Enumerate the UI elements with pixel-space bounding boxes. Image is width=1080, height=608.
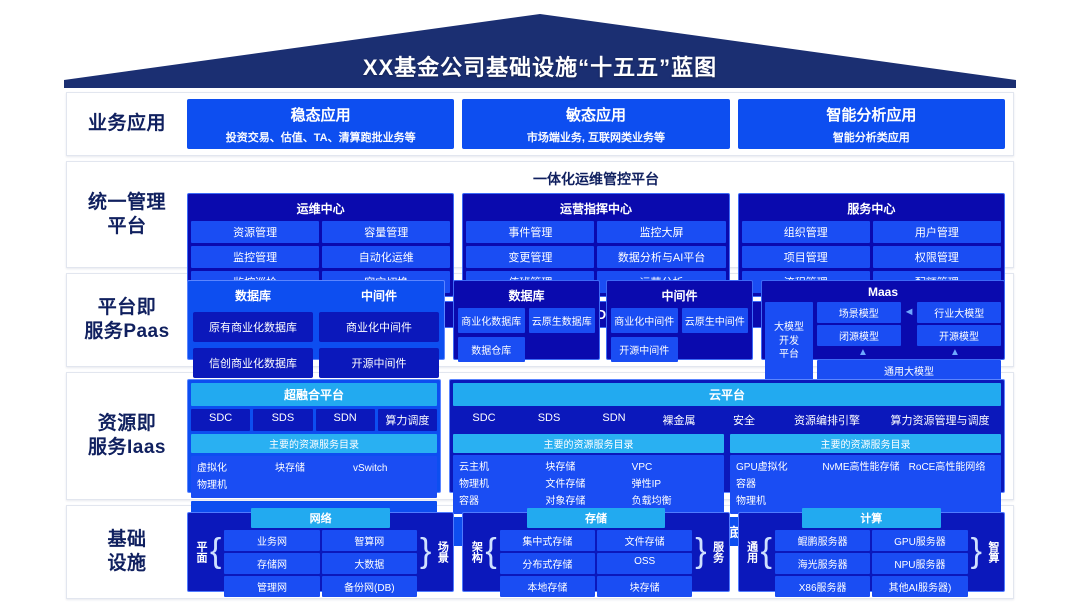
capability-chip[interactable]: SDC bbox=[191, 409, 250, 431]
catalog-title: 主要的资源服务目录 bbox=[191, 434, 437, 453]
catalog-item: 虚拟化 bbox=[197, 460, 275, 477]
label-line-1: 统一管理 bbox=[88, 191, 166, 215]
infra-item[interactable]: 集中式存储 bbox=[500, 530, 595, 551]
business-card-intelligent[interactable]: 智能分析应用 智能分析类应用 bbox=[738, 99, 1005, 149]
label-line-2: 设施 bbox=[107, 552, 146, 576]
maas-scene-model[interactable]: 场景模型 bbox=[817, 302, 901, 323]
chip-item[interactable]: 资源管理 bbox=[191, 221, 319, 243]
catalog-title: 主要的资源服务目录 bbox=[730, 434, 1001, 453]
arrow-left-icon: ◄ bbox=[904, 307, 915, 318]
capability-chip[interactable]: SDN bbox=[583, 409, 645, 431]
infra-item[interactable]: 文件存储 bbox=[597, 530, 692, 551]
arrow-up-icon: ▲ bbox=[950, 348, 960, 358]
maas-dev-platform[interactable]: 大模型 开发 平台 bbox=[765, 302, 813, 381]
storage-right-label: 服务 bbox=[710, 541, 724, 563]
business-cards: 稳态应用 投资交易、估值、TA、清算跑批业务等 敏态应用 市场端业务, 互联网类… bbox=[187, 93, 1013, 155]
catalog-item: 物理机 bbox=[459, 476, 545, 493]
capability-chip[interactable]: SDN bbox=[316, 409, 375, 431]
layer-paas: 平台即 服务Paas 数据库 原有商业化数据库 信创商业化数据库 中间件 商业化… bbox=[66, 273, 1014, 367]
paas-item[interactable]: 云原生中间件 bbox=[682, 308, 749, 333]
layer-iaas: 资源即 服务Iaas 超融合平台 SDC SDS SDN 算力调度 主要的资源服… bbox=[66, 372, 1014, 500]
brace-right-icon: } bbox=[695, 539, 706, 565]
dev-line-1: 大模型 bbox=[774, 321, 804, 335]
paas-legacy-block: 数据库 原有商业化数据库 信创商业化数据库 中间件 商业化中间件 开源中间件 bbox=[187, 280, 445, 360]
card-title: 智能分析应用 bbox=[826, 104, 916, 125]
compute-left-label: 通用 bbox=[744, 541, 758, 563]
chip-item[interactable]: 变更管理 bbox=[466, 246, 594, 268]
catalog-group-ai: 主要的资源服务目录 GPU虚拟化 容器 物理机 NvME高性能存储 bbox=[730, 434, 1001, 514]
capability-chip[interactable]: 安全 bbox=[713, 409, 775, 431]
card-title: 稳态应用 bbox=[291, 104, 351, 125]
infra-item[interactable]: 本地存储 bbox=[500, 576, 595, 597]
capability-chip[interactable]: 资源编排引擎 bbox=[778, 409, 876, 431]
infra-item[interactable]: OSS bbox=[597, 553, 692, 574]
catalog-item: 文件存储 bbox=[545, 476, 631, 493]
infra-item[interactable]: 分布式存储 bbox=[500, 553, 595, 574]
brace-left-icon: { bbox=[210, 539, 221, 565]
capability-chip[interactable]: 裸金属 bbox=[648, 409, 710, 431]
maas-closed-model[interactable]: 闭源模型 bbox=[817, 325, 901, 346]
paas-cloud-block: 数据库 商业化数据库 云原生数据库 数据仓库 中间件 商业化中间件 云原生中间件 bbox=[453, 280, 753, 360]
infra-item[interactable]: NPU服务器 bbox=[872, 553, 967, 574]
maas-title: Maas bbox=[765, 284, 1001, 302]
paas-db-group: 数据库 原有商业化数据库 信创商业化数据库 bbox=[193, 286, 313, 354]
label-line-2: 服务Iaas bbox=[88, 436, 166, 460]
infra-item[interactable]: 鲲鹏服务器 bbox=[775, 530, 870, 551]
paas-item-empty bbox=[682, 337, 749, 362]
brace-left-icon: { bbox=[485, 539, 496, 565]
layer-stack: 业务应用 稳态应用 投资交易、估值、TA、清算跑批业务等 敏态应用 市场端业务,… bbox=[66, 92, 1014, 604]
integrated-ops-title: 一体化运维管控平台 bbox=[187, 169, 1005, 189]
catalog-item: 物理机 bbox=[197, 477, 275, 494]
capability-chip[interactable]: SDC bbox=[453, 409, 515, 431]
paas-item[interactable]: 商业化中间件 bbox=[611, 308, 678, 333]
compute-right-label: 智算 bbox=[985, 541, 999, 563]
arrow-up-icon: ▲ bbox=[858, 348, 868, 358]
storage-title: 存储 bbox=[527, 508, 666, 528]
group-title: 数据库 bbox=[458, 285, 595, 308]
network-title: 网络 bbox=[251, 508, 390, 528]
catalog-item: 块存储 bbox=[275, 460, 353, 477]
label-line-1: 资源即 bbox=[88, 412, 166, 436]
layer-label-infrastructure: 基础 设施 bbox=[67, 506, 187, 598]
catalog-item: NvME高性能存储 bbox=[822, 459, 908, 476]
chip-item[interactable]: 自动化运维 bbox=[322, 246, 450, 268]
catalog-item: RoCE高性能网络 bbox=[909, 459, 995, 476]
catalog-title: 主要的资源服务目录 bbox=[453, 434, 724, 453]
catalog-group-general: 主要的资源服务目录 云主机 物理机 容器 块存储 文件存储 bbox=[453, 434, 724, 514]
chip-item[interactable]: 权限管理 bbox=[873, 246, 1001, 268]
center-title: 服务中心 bbox=[742, 197, 1001, 221]
catalog-item: 容器 bbox=[736, 476, 822, 493]
network-left-label: 平面 bbox=[193, 541, 207, 563]
chip-item[interactable]: 事件管理 bbox=[466, 221, 594, 243]
chip-item[interactable]: 监控管理 bbox=[191, 246, 319, 268]
infra-block-network: 平面 { 网络 业务网 智算网 存储网 大数据 管理网 备份网(DB) bbox=[187, 512, 454, 592]
label-line-1: 平台即 bbox=[84, 296, 169, 320]
business-card-agile[interactable]: 敏态应用 市场端业务, 互联网类业务等 bbox=[462, 99, 729, 149]
infra-block-compute: 通用 { 计算 鲲鹏服务器 GPU服务器 海光服务器 NPU服务器 X86服务器… bbox=[738, 512, 1005, 592]
group-title: 中间件 bbox=[611, 285, 748, 308]
paas-item[interactable]: 原有商业化数据库 bbox=[193, 312, 313, 342]
capability-chip[interactable]: SDS bbox=[253, 409, 312, 431]
infra-item[interactable]: 业务网 bbox=[224, 530, 319, 551]
infra-item[interactable]: 大数据 bbox=[322, 553, 417, 574]
layer-label-management: 统一管理 平台 bbox=[67, 162, 187, 267]
maas-industry-model[interactable]: 行业大模型 bbox=[917, 302, 1001, 323]
infra-item[interactable]: 备份网(DB) bbox=[322, 576, 417, 597]
cloud-platform-title: 云平台 bbox=[453, 383, 1001, 406]
iaas-hyperconverged-block: 超融合平台 SDC SDS SDN 算力调度 主要的资源服务目录 虚拟化 物理机 bbox=[187, 379, 441, 493]
paas-item[interactable]: 开源中间件 bbox=[611, 337, 678, 362]
infra-item[interactable]: 管理网 bbox=[224, 576, 319, 597]
roof-banner: XX基金公司基础设施“十五五”蓝图 bbox=[64, 14, 1016, 88]
chip-item[interactable]: 容量管理 bbox=[322, 221, 450, 243]
chip-item[interactable]: 监控大屏 bbox=[597, 221, 725, 243]
group-title: 中间件 bbox=[319, 286, 439, 306]
capability-chip[interactable]: SDS bbox=[518, 409, 580, 431]
card-subtitle: 投资交易、估值、TA、清算跑批业务等 bbox=[226, 129, 416, 145]
blueprint-page: XX基金公司基础设施“十五五”蓝图 业务应用 稳态应用 投资交易、估值、TA、清… bbox=[0, 0, 1080, 608]
network-right-label: 场景 bbox=[434, 541, 448, 563]
layer-label-business: 业务应用 bbox=[67, 93, 187, 155]
chip-item[interactable]: 用户管理 bbox=[873, 221, 1001, 243]
catalog-item: GPU虚拟化 bbox=[736, 459, 822, 476]
paas-item[interactable]: 云原生数据库 bbox=[529, 308, 596, 333]
paas-maas-block: Maas 大模型 开发 平台 场景模型 ◄ bbox=[761, 280, 1005, 360]
layer-business-application: 业务应用 稳态应用 投资交易、估值、TA、清算跑批业务等 敏态应用 市场端业务,… bbox=[66, 92, 1014, 156]
infra-block-storage: 架构 { 存储 集中式存储 文件存储 分布式存储 OSS 本地存储 块存储 bbox=[462, 512, 729, 592]
dev-line-3: 平台 bbox=[774, 348, 804, 362]
iaas-cloud-block: 云平台 SDC SDS SDN 裸金属 安全 资源编排引擎 算力资源管理与调度 … bbox=[449, 379, 1005, 493]
label-line-2: 平台 bbox=[88, 215, 166, 239]
catalog-item: 云主机 bbox=[459, 459, 545, 476]
capability-chip[interactable]: 算力调度 bbox=[378, 409, 437, 431]
paas-middleware-group: 中间件 商业化中间件 开源中间件 bbox=[319, 286, 439, 354]
layer-label-iaas: 资源即 服务Iaas bbox=[67, 373, 187, 499]
infra-item[interactable]: 智算网 bbox=[322, 530, 417, 551]
infra-item[interactable]: X86服务器 bbox=[775, 576, 870, 597]
compute-title: 计算 bbox=[802, 508, 941, 528]
brace-left-icon: { bbox=[761, 539, 772, 565]
page-title: XX基金公司基础设施“十五五”蓝图 bbox=[64, 50, 1016, 82]
label-line-2: 服务Paas bbox=[84, 320, 169, 344]
catalog-body: 虚拟化 物理机 块存储 vSwitch bbox=[191, 456, 437, 498]
brace-right-icon: } bbox=[971, 539, 982, 565]
center-title: 运维中心 bbox=[191, 197, 450, 221]
card-subtitle: 智能分析类应用 bbox=[833, 129, 910, 145]
chip-item[interactable]: 组织管理 bbox=[742, 221, 870, 243]
chip-item[interactable]: 项目管理 bbox=[742, 246, 870, 268]
paas-item[interactable]: 商业化数据库 bbox=[458, 308, 525, 333]
integrated-ops-platform: 一体化运维管控平台 运维中心 资源管理 容量管理 监控管理 自动化运维 监控巡检… bbox=[187, 168, 1005, 261]
chip-item[interactable]: 数据分析与AI平台 bbox=[597, 246, 725, 268]
group-title: 数据库 bbox=[193, 286, 313, 306]
catalog-item: vSwitch bbox=[353, 460, 431, 477]
catalog-item: 块存储 bbox=[545, 459, 631, 476]
paas-item-empty bbox=[529, 337, 596, 362]
infra-item[interactable]: 存储网 bbox=[224, 553, 319, 574]
catalog-item: 弹性IP bbox=[632, 476, 718, 493]
card-subtitle: 市场端业务, 互联网类业务等 bbox=[527, 129, 665, 145]
capability-chip[interactable]: 算力资源管理与调度 bbox=[879, 409, 1001, 431]
hyperconverged-title: 超融合平台 bbox=[191, 383, 437, 406]
paas-cloud-db: 数据库 商业化数据库 云原生数据库 数据仓库 bbox=[453, 280, 600, 360]
catalog-item: VPC bbox=[632, 459, 718, 476]
infra-item[interactable]: 其他AI服务器) bbox=[872, 576, 967, 597]
layer-unified-management: 统一管理 平台 一体化运维管控平台 运维中心 资源管理 容量管理 监控管理 bbox=[66, 161, 1014, 268]
center-title: 运营指挥中心 bbox=[466, 197, 725, 221]
infra-item[interactable]: 海光服务器 bbox=[775, 553, 870, 574]
storage-left-label: 架构 bbox=[468, 541, 482, 563]
paas-item[interactable]: 商业化中间件 bbox=[319, 312, 439, 342]
card-title: 敏态应用 bbox=[566, 104, 626, 125]
brace-right-icon: } bbox=[420, 539, 431, 565]
label-line-1: 基础 bbox=[107, 528, 146, 552]
layer-infrastructure: 基础 设施 平面 { 网络 业务网 智算网 存储网 大数据 管 bbox=[66, 505, 1014, 599]
paas-item[interactable]: 数据仓库 bbox=[458, 337, 525, 362]
infra-item[interactable]: GPU服务器 bbox=[872, 530, 967, 551]
paas-cloud-middleware: 中间件 商业化中间件 云原生中间件 开源中间件 bbox=[606, 280, 753, 360]
business-card-steady[interactable]: 稳态应用 投资交易、估值、TA、清算跑批业务等 bbox=[187, 99, 454, 149]
infra-item[interactable]: 块存储 bbox=[597, 576, 692, 597]
layer-label-paas: 平台即 服务Paas bbox=[67, 274, 187, 366]
maas-open-model[interactable]: 开源模型 bbox=[917, 325, 1001, 346]
dev-line-2: 开发 bbox=[774, 335, 804, 349]
